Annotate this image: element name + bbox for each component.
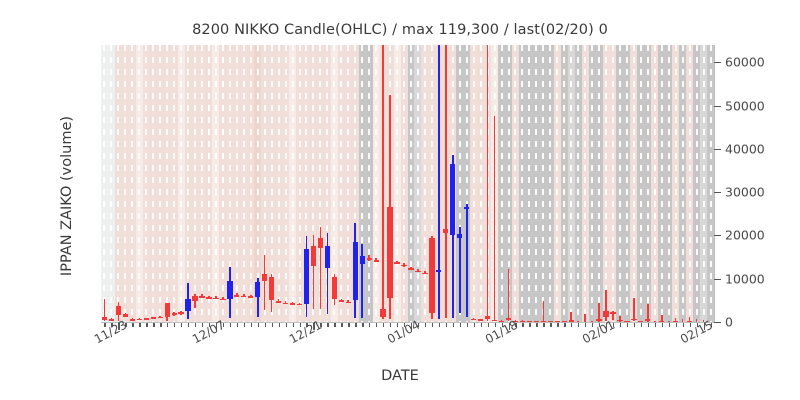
vertical-gridline: [521, 45, 523, 322]
candle-wick: [487, 45, 489, 321]
candle-wick: [466, 204, 468, 317]
candle-body: [227, 281, 232, 300]
candle-wick: [264, 255, 266, 310]
vertical-gridline: [633, 45, 635, 322]
x-tick-minor: [662, 323, 663, 327]
vertical-gridline: [514, 45, 516, 322]
vertical-gridline: [501, 45, 503, 322]
y-axis-title: IPPAN ZAIKO (volume): [59, 81, 75, 311]
y-tick: [714, 322, 721, 323]
candle-body: [213, 298, 218, 300]
candle-body: [123, 314, 128, 317]
x-tick-minor: [467, 323, 468, 327]
candle-body: [318, 238, 323, 248]
candle-body: [471, 319, 476, 321]
vertical-gridline: [668, 45, 670, 322]
candle-body: [199, 296, 204, 298]
vertical-gridline: [612, 45, 614, 322]
candle-body: [325, 246, 330, 268]
vertical-gridline: [110, 45, 112, 322]
candle-body: [360, 256, 365, 263]
vertical-gridline: [640, 45, 642, 322]
vertical-gridline: [424, 45, 426, 322]
vertical-gridline: [375, 45, 377, 322]
y-tick: [714, 235, 721, 236]
x-tick-minor: [265, 323, 266, 327]
vertical-gridline: [138, 45, 140, 322]
vertical-gridline: [159, 45, 161, 322]
candle-body: [436, 270, 441, 272]
x-tick-minor: [286, 323, 287, 327]
y-tick: [714, 106, 721, 107]
x-tick-minor: [355, 323, 356, 327]
x-tick-minor: [453, 323, 454, 327]
x-tick-minor: [585, 323, 586, 327]
candle-body: [178, 312, 183, 314]
vertical-gridline: [187, 45, 189, 322]
candle-body: [192, 296, 197, 302]
vertical-gridline: [201, 45, 203, 322]
x-tick-minor: [258, 323, 259, 327]
x-tick-minor: [272, 323, 273, 327]
y-tick-label: 0: [725, 315, 733, 330]
candle-body: [380, 309, 385, 317]
candle-body: [464, 207, 469, 209]
vertical-gridline: [368, 45, 370, 322]
x-tick-minor: [174, 323, 175, 327]
candle-body: [415, 271, 420, 273]
x-tick-minor: [571, 323, 572, 327]
candle-wick: [361, 244, 363, 318]
vertical-gridline: [556, 45, 558, 322]
candle-body: [297, 304, 302, 306]
vertical-gridline: [535, 45, 537, 322]
x-tick-minor: [139, 323, 140, 327]
vertical-gridline: [696, 45, 698, 322]
x-tick-minor: [536, 323, 537, 327]
vertical-gridline: [689, 45, 691, 322]
x-tick-minor: [146, 323, 147, 327]
x-tick-minor: [341, 323, 342, 327]
y-tick: [714, 62, 721, 63]
candle-body: [206, 297, 211, 299]
y-tick-label: 30000: [725, 185, 765, 200]
candle-body: [443, 229, 448, 233]
candle-body: [151, 317, 156, 319]
candle-body: [346, 302, 351, 304]
vertical-gridline: [292, 45, 294, 322]
x-tick-minor: [550, 323, 551, 327]
candle-body: [283, 303, 288, 305]
candle-body: [144, 318, 149, 320]
x-tick-minor: [557, 323, 558, 327]
candle-body: [478, 319, 483, 321]
vertical-gridline: [577, 45, 579, 322]
y-tick-label: 40000: [725, 141, 765, 156]
candle-body: [262, 274, 267, 281]
vertical-gridline: [542, 45, 544, 322]
x-tick-minor: [627, 323, 628, 327]
candle-body: [116, 306, 121, 316]
candle-body: [401, 265, 406, 267]
candle-body: [387, 207, 392, 298]
vertical-gridline: [598, 45, 600, 322]
candle-wick: [445, 45, 447, 318]
candle-body: [408, 268, 413, 270]
candle-body: [596, 319, 601, 321]
x-tick-minor: [578, 323, 579, 327]
vertical-gridline: [347, 45, 349, 322]
candle-body: [269, 277, 274, 301]
vertical-gridline: [278, 45, 280, 322]
x-tick-minor: [648, 323, 649, 327]
y-tick-label: 10000: [725, 271, 765, 286]
vertical-gridline: [703, 45, 705, 322]
x-tick-minor: [327, 323, 328, 327]
vertical-gridline: [710, 45, 712, 322]
candle-body: [339, 300, 344, 302]
candle-wick: [382, 45, 384, 319]
vertical-gridline: [473, 45, 475, 322]
candle-body: [130, 319, 135, 321]
candle-body: [631, 319, 636, 321]
x-tick-minor: [237, 323, 238, 327]
vertical-gridline: [340, 45, 342, 322]
x-tick-minor: [522, 323, 523, 327]
candle-body: [234, 295, 239, 297]
vertical-gridline: [243, 45, 245, 322]
vertical-gridline: [299, 45, 301, 322]
vertical-gridline: [528, 45, 530, 322]
vertical-gridline: [215, 45, 217, 322]
candle-body: [276, 301, 281, 303]
x-tick-minor: [543, 323, 544, 327]
x-axis-title: DATE: [0, 368, 800, 384]
candle-body: [304, 249, 309, 304]
candle-body: [429, 238, 434, 313]
plot-area: [101, 45, 714, 322]
vertical-gridline: [208, 45, 210, 322]
x-tick-minor: [279, 323, 280, 327]
x-tick-minor: [481, 323, 482, 327]
vertical-gridline: [250, 45, 252, 322]
y-tick-label: 60000: [725, 55, 765, 70]
candle-body: [172, 313, 177, 315]
vertical-gridline: [682, 45, 684, 322]
candle-body: [422, 273, 427, 275]
candle-body: [374, 260, 379, 262]
vertical-gridline: [584, 45, 586, 322]
candle-body: [137, 319, 142, 321]
chart-root: 8200 NIKKO Candle(OHLC) / max 119,300 / …: [0, 0, 800, 400]
y-tick-label: 50000: [725, 98, 765, 113]
candle-body: [255, 282, 260, 297]
candle-body: [332, 277, 337, 300]
candle-body: [290, 303, 295, 305]
candle-body: [394, 262, 399, 264]
vertical-gridline: [180, 45, 182, 322]
x-tick-minor: [195, 323, 196, 327]
y-tick-label: 20000: [725, 228, 765, 243]
vertical-gridline: [654, 45, 656, 322]
x-tick-minor: [460, 323, 461, 327]
candle-body: [220, 299, 225, 301]
x-tick-minor: [181, 323, 182, 327]
x-tick-minor: [167, 323, 168, 327]
x-tick-minor: [153, 323, 154, 327]
candle-wick: [508, 269, 510, 321]
vertical-gridline: [145, 45, 147, 322]
candle-body: [109, 319, 114, 321]
x-tick-minor: [676, 323, 677, 327]
vertical-gridline: [647, 45, 649, 322]
vertical-gridline: [152, 45, 154, 322]
x-tick-minor: [446, 323, 447, 327]
vertical-gridline: [675, 45, 677, 322]
candle-body: [450, 164, 455, 235]
candle-wick: [543, 301, 545, 321]
vertical-gridline: [480, 45, 482, 322]
candle-wick: [494, 116, 496, 321]
candle-body: [457, 234, 462, 238]
candle-body: [102, 317, 107, 320]
candle-body: [353, 242, 358, 300]
candle-body: [241, 296, 246, 298]
vertical-gridline: [570, 45, 572, 322]
vertical-gridline: [222, 45, 224, 322]
vertical-gridline: [117, 45, 119, 322]
candle-body: [158, 317, 163, 319]
x-tick-minor: [334, 323, 335, 327]
vertical-gridline: [396, 45, 398, 322]
candle-wick: [459, 227, 461, 314]
vertical-gridline: [563, 45, 565, 322]
x-tick-minor: [132, 323, 133, 327]
x-tick-minor: [362, 323, 363, 327]
candle-body: [185, 299, 190, 312]
x-tick-minor: [348, 323, 349, 327]
x-tick-minor: [488, 323, 489, 327]
candle-wick: [438, 45, 440, 319]
vertical-gridline: [549, 45, 551, 322]
vertical-gridline: [166, 45, 168, 322]
vertical-gridline: [661, 45, 663, 322]
candle-body: [645, 319, 650, 321]
x-tick-minor: [376, 323, 377, 327]
x-tick-minor: [474, 323, 475, 327]
x-tick-minor: [655, 323, 656, 327]
candle-body: [248, 296, 253, 298]
candle-body: [603, 311, 608, 317]
x-tick-minor: [251, 323, 252, 327]
vertical-gridline: [124, 45, 126, 322]
candle-body: [165, 303, 170, 316]
x-tick-minor: [390, 323, 391, 327]
y-tick: [714, 149, 721, 150]
y-tick: [714, 279, 721, 280]
vertical-gridline: [605, 45, 607, 322]
vertical-gridline: [410, 45, 412, 322]
x-tick-minor: [439, 323, 440, 327]
vertical-gridline: [403, 45, 405, 322]
x-tick-minor: [230, 323, 231, 327]
x-tick-minor: [188, 323, 189, 327]
vertical-gridline: [173, 45, 175, 322]
x-tick-minor: [669, 323, 670, 327]
x-tick-minor: [425, 323, 426, 327]
x-tick-minor: [383, 323, 384, 327]
x-tick-minor: [564, 323, 565, 327]
vertical-gridline: [236, 45, 238, 322]
candle-body: [367, 258, 372, 260]
candle-body: [311, 246, 316, 266]
x-tick-minor: [369, 323, 370, 327]
vertical-gridline: [619, 45, 621, 322]
vertical-gridline: [626, 45, 628, 322]
x-tick-minor: [432, 323, 433, 327]
vertical-gridline: [194, 45, 196, 322]
x-tick-minor: [293, 323, 294, 327]
vertical-gridline: [591, 45, 593, 322]
chart-title: 8200 NIKKO Candle(OHLC) / max 119,300 / …: [0, 22, 800, 38]
x-tick-minor: [620, 323, 621, 327]
candle-body: [485, 316, 490, 319]
candle-body: [610, 312, 615, 314]
x-tick-minor: [641, 323, 642, 327]
y-axis: 0100002000030000400005000060000: [714, 45, 800, 322]
y-tick: [714, 192, 721, 193]
x-tick-minor: [634, 323, 635, 327]
vertical-gridline: [131, 45, 133, 322]
x-tick-minor: [529, 323, 530, 327]
x-tick-minor: [160, 323, 161, 327]
x-tick-minor: [244, 323, 245, 327]
vertical-gridline: [103, 45, 105, 322]
vertical-gridline: [417, 45, 419, 322]
vertical-gridline: [285, 45, 287, 322]
x-tick-minor: [683, 323, 684, 327]
